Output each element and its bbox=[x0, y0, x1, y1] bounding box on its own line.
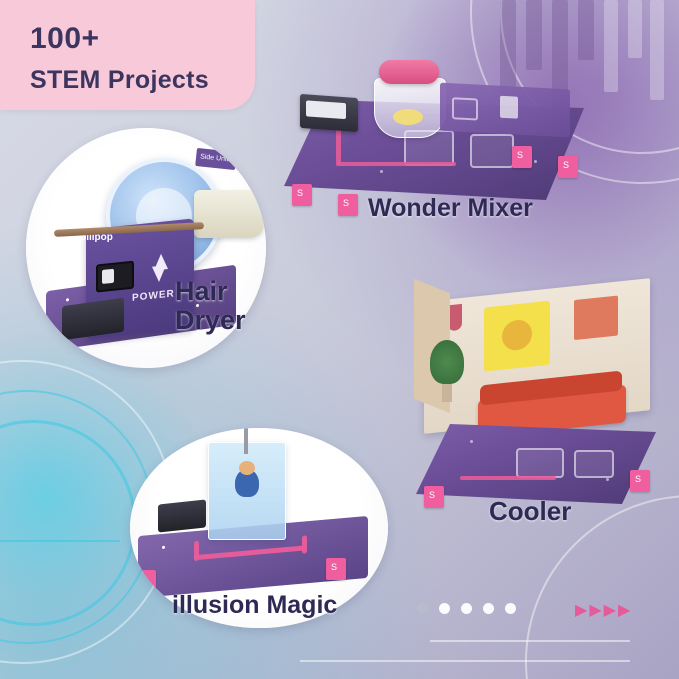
board-leg: S bbox=[292, 184, 312, 206]
board-leg: S bbox=[338, 194, 358, 216]
decor-bar bbox=[650, 0, 664, 100]
battery-box bbox=[300, 94, 358, 132]
decor-line bbox=[0, 540, 120, 542]
hologram-screen bbox=[208, 442, 286, 540]
board-back-panel bbox=[440, 83, 570, 138]
chevron-right-icon[interactable]: ▶ bbox=[618, 600, 629, 620]
board-leg: S bbox=[326, 558, 346, 580]
room-window bbox=[484, 301, 550, 372]
carousel-dot[interactable] bbox=[483, 603, 494, 614]
board-leg: S bbox=[424, 486, 444, 508]
board-track bbox=[460, 476, 556, 480]
chevron-right-icon[interactable]: ▶ bbox=[575, 600, 586, 620]
stem-projects-badge: 100+ STEM Projects bbox=[0, 0, 255, 110]
board-leg: S bbox=[136, 570, 156, 592]
decor-bar bbox=[628, 0, 642, 58]
label-hair-dryer-line2: Dryer bbox=[175, 306, 246, 335]
badge-count: 100+ bbox=[30, 22, 100, 56]
board-slot bbox=[516, 448, 564, 478]
carousel-dot[interactable] bbox=[439, 603, 450, 614]
board-leg: S bbox=[512, 146, 532, 168]
room-plant bbox=[430, 340, 464, 384]
room-lamp bbox=[448, 304, 462, 331]
board-slot bbox=[470, 134, 514, 168]
label-cooler: Cooler bbox=[489, 497, 571, 525]
carousel-dots[interactable] bbox=[417, 603, 516, 614]
decor-line bbox=[430, 640, 630, 642]
label-wonder-mixer: Wonder Mixer bbox=[368, 195, 533, 222]
mixer-lid bbox=[379, 60, 439, 84]
decor-bar bbox=[578, 0, 594, 60]
decor-bar bbox=[526, 0, 542, 70]
dryer-nozzle bbox=[194, 190, 264, 238]
board-leg: S bbox=[630, 470, 650, 492]
carousel-dot[interactable] bbox=[417, 603, 428, 614]
carousel-dot[interactable] bbox=[505, 603, 516, 614]
board-track bbox=[336, 126, 341, 164]
badge-subtitle: STEM Projects bbox=[30, 66, 209, 95]
product-image: S S S S bbox=[0, 0, 679, 679]
board-deck bbox=[416, 424, 656, 504]
chevron-right-icon[interactable]: ▶ bbox=[604, 600, 615, 620]
power-switch bbox=[96, 261, 134, 293]
chevron-right-icon[interactable]: ▶ bbox=[589, 600, 600, 620]
label-hair-dryer: Hair Dryer bbox=[175, 277, 246, 335]
carousel-dot[interactable] bbox=[461, 603, 472, 614]
decor-bar bbox=[604, 0, 618, 92]
support-rod bbox=[244, 428, 248, 454]
label-hair-dryer-line1: Hair bbox=[175, 277, 246, 306]
decor-bar bbox=[500, 0, 516, 96]
decor-line bbox=[300, 660, 630, 662]
board-leg: S bbox=[558, 156, 578, 178]
label-illusion-magic: illusion Magic bbox=[172, 592, 337, 619]
mixer-jar bbox=[374, 78, 446, 138]
carousel-next-arrows[interactable]: ▶ ▶ ▶ ▶ bbox=[575, 600, 629, 620]
board-track bbox=[336, 162, 456, 166]
room-picture bbox=[574, 295, 618, 340]
board-slot bbox=[574, 450, 614, 478]
power-label: POWER bbox=[132, 288, 175, 303]
battery-box bbox=[158, 499, 206, 532]
